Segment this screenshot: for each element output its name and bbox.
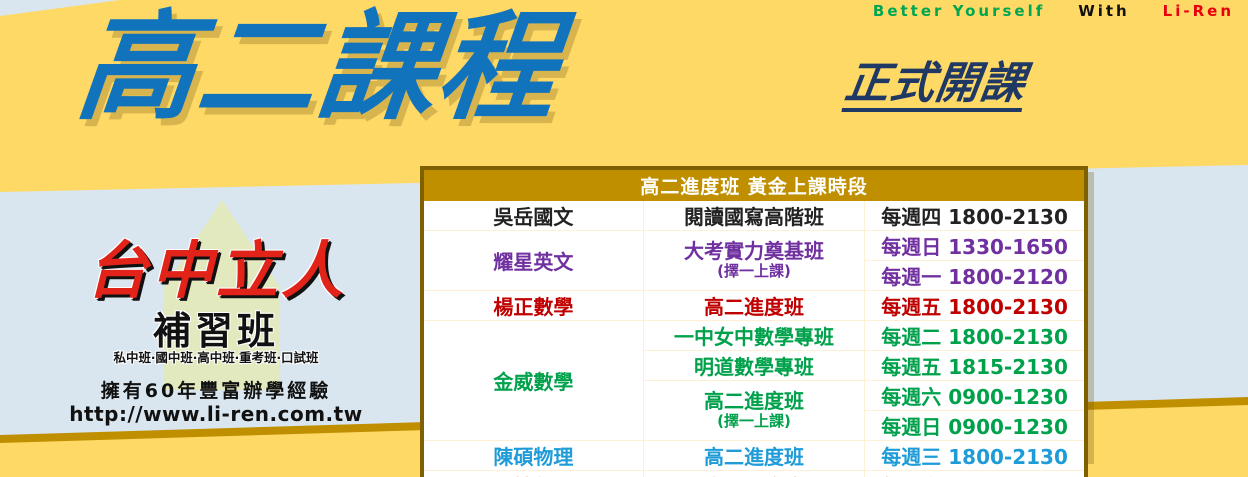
cell-course: 高二進度班	[643, 471, 864, 477]
table-row[interactable]: 吳岳國文 閱讀國寫高階班 每週四 1800-2130	[422, 201, 1086, 231]
cell-time: 每週三 1800-2130	[865, 441, 1086, 471]
table-row[interactable]: 金威數學 一中女中數學專班 每週二 1800-2130	[422, 321, 1086, 351]
page-title: 高二課程	[72, 8, 564, 126]
cell-time: 每週一 1800-2120	[865, 261, 1086, 291]
logo-experience: 擁有60年豐富辦學經驗	[36, 376, 396, 403]
brand-logo: 台中立人 補習班 私中班‧國中班‧高中班‧重考班‧口試班 擁有60年豐富辦學經驗…	[36, 200, 396, 450]
schedule-table: 高二進度班 黃金上課時段 吳岳國文 閱讀國寫高階班 每週四 1800-2130 …	[420, 166, 1088, 477]
course-note: (擇一上課)	[644, 413, 864, 430]
cell-course: 明道數學專班	[643, 351, 864, 381]
course-name: 大考實力奠基班	[644, 240, 864, 263]
cell-time: 每週六 1800-2115	[865, 471, 1086, 477]
cell-teacher: 王皓化學	[422, 471, 643, 477]
cell-time: 每週五 1800-2130	[865, 291, 1086, 321]
cell-teacher: 陳碩物理	[422, 441, 643, 471]
logo-categories: 私中班‧國中班‧高中班‧重考班‧口試班	[36, 347, 396, 366]
cell-time: 每週四 1800-2130	[865, 201, 1086, 231]
logo-website-url[interactable]: http://www.li-ren.com.tw	[36, 402, 396, 426]
slogan-better: Better Yourself	[873, 2, 1045, 20]
poster-canvas: Better Yourself With Li-Ren 高二課程 正式開課 台中…	[0, 0, 1248, 477]
cell-course: 閱讀國寫高階班	[643, 201, 864, 231]
table-row[interactable]: 王皓化學 高二進度班 每週六 1800-2115	[422, 471, 1086, 477]
logo-name: 台中立人	[36, 220, 396, 310]
cell-teacher: 吳岳國文	[422, 201, 643, 231]
cell-time: 每週日 0900-1230	[865, 411, 1086, 441]
table-row[interactable]: 楊正數學 高二進度班 每週五 1800-2130	[422, 291, 1086, 321]
cell-time: 每週五 1815-2130	[865, 351, 1086, 381]
cell-course: 大考實力奠基班 (擇一上課)	[643, 231, 864, 291]
course-note: (擇一上課)	[644, 263, 864, 280]
cell-teacher: 耀星英文	[422, 231, 643, 291]
schedule-header-title: 高二進度班 黃金上課時段	[422, 168, 1086, 201]
cell-teacher: 金威數學	[422, 321, 643, 441]
cell-course: 高二進度班	[643, 441, 864, 471]
cell-teacher: 楊正數學	[422, 291, 643, 321]
table-row[interactable]: 耀星英文 大考實力奠基班 (擇一上課) 每週日 1330-1650	[422, 231, 1086, 261]
page-subtitle: 正式開課	[841, 62, 1028, 112]
table-header-row: 高二進度班 黃金上課時段	[422, 168, 1086, 201]
cell-time: 每週二 1800-2130	[865, 321, 1086, 351]
cell-time: 每週日 1330-1650	[865, 231, 1086, 261]
cell-course: 高二進度班	[643, 291, 864, 321]
table-row[interactable]: 陳碩物理 高二進度班 每週三 1800-2130	[422, 441, 1086, 471]
slogan-brand: Li-Ren	[1163, 2, 1234, 20]
course-name: 高二進度班	[644, 390, 864, 413]
cell-time: 每週六 0900-1230	[865, 381, 1086, 411]
cell-course: 一中女中數學專班	[643, 321, 864, 351]
cell-course: 高二進度班 (擇一上課)	[643, 381, 864, 441]
slogan-with: With	[1078, 2, 1130, 20]
